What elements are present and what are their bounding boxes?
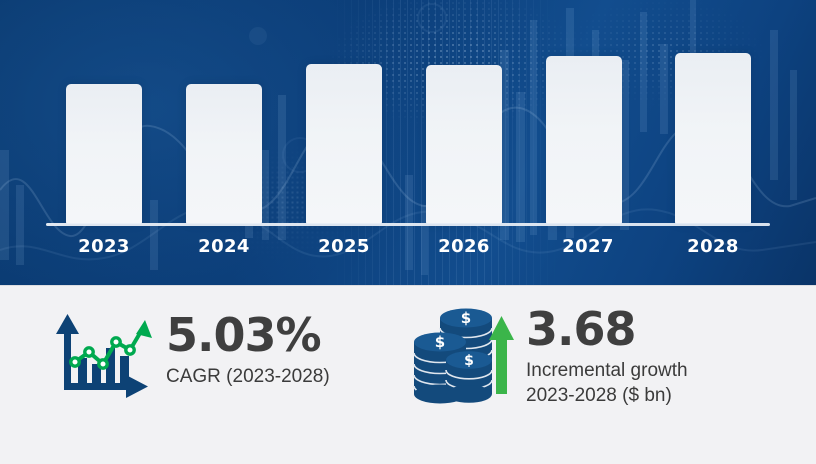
stat-cagr: 5.03% CAGR (2023-2028) <box>48 312 330 409</box>
cagr-label: CAGR (2023-2028) <box>166 364 330 389</box>
incremental-growth-label: Incremental growth 2023-2028 ($ bn) <box>526 358 688 408</box>
stat-incremental-growth: $ $ <box>412 306 688 411</box>
stat-incremental-growth-text: 3.68 Incremental growth 2023-2028 ($ bn) <box>526 306 688 408</box>
bar-2028 <box>675 53 751 224</box>
bar-2027 <box>546 56 622 224</box>
stat-cagr-text: 5.03% CAGR (2023-2028) <box>166 312 330 389</box>
chart-panel: 2023 2024 2025 2026 2027 2028 <box>0 0 816 285</box>
cagr-value: 5.03% <box>166 312 330 360</box>
x-axis-label-2026: 2026 <box>404 236 524 257</box>
incremental-growth-value: 3.68 <box>526 306 688 354</box>
svg-text:$: $ <box>435 333 445 351</box>
stats-panel: 5.03% CAGR (2023-2028) <box>0 285 816 464</box>
coin-stacks-icon: $ $ <box>412 306 514 411</box>
bar-2026 <box>426 65 502 224</box>
x-axis-label-2025: 2025 <box>284 236 404 257</box>
bar-chart: 2023 2024 2025 2026 2027 2028 <box>0 0 816 285</box>
x-axis-label-2028: 2028 <box>653 236 773 257</box>
x-axis-label-2024: 2024 <box>164 236 284 257</box>
bar-2024 <box>186 84 262 224</box>
svg-text:$: $ <box>464 353 474 369</box>
bar-2025 <box>306 64 382 224</box>
coin-stack-front: $ <box>446 351 492 403</box>
chart-baseline-axis <box>46 223 770 226</box>
growth-bar-chart-icon <box>48 312 152 409</box>
up-arrow-icon <box>489 316 514 394</box>
x-axis-label-2023: 2023 <box>44 236 164 257</box>
x-axis-label-2027: 2027 <box>528 236 648 257</box>
bar-2023 <box>66 84 142 224</box>
market-growth-infographic: 2023 2024 2025 2026 2027 2028 <box>0 0 816 464</box>
svg-text:$: $ <box>461 309 471 327</box>
